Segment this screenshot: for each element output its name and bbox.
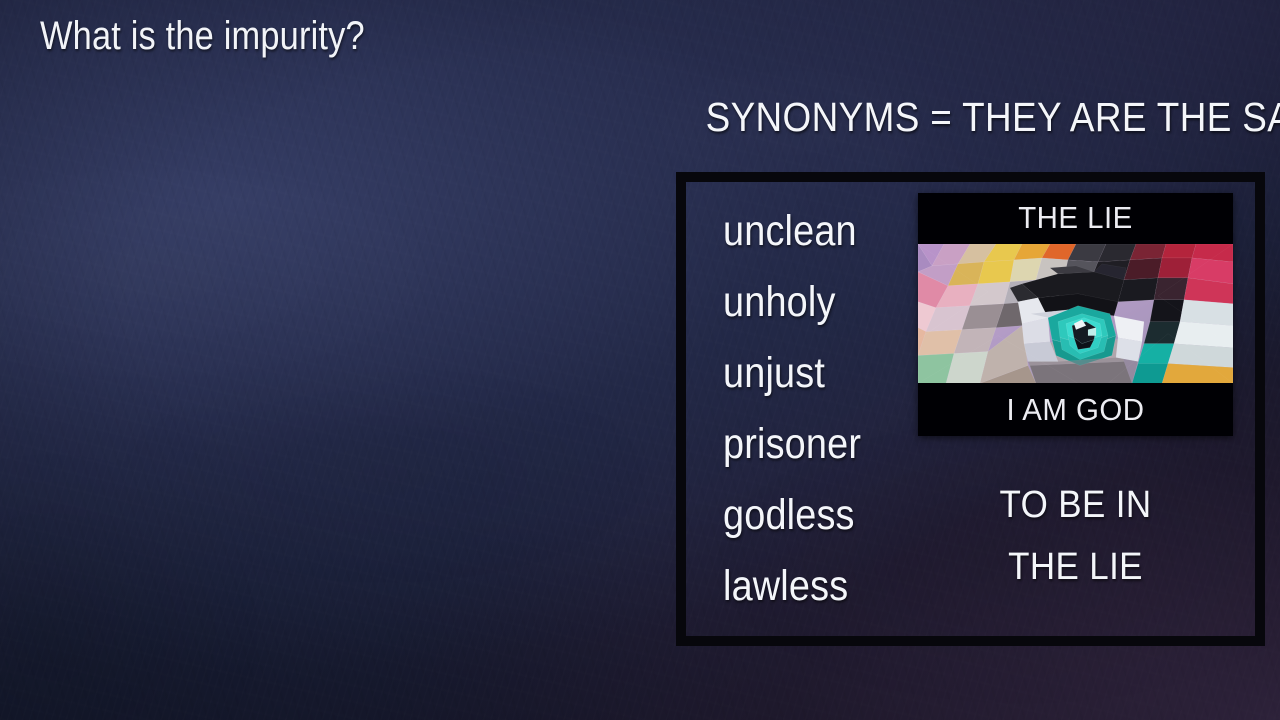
caption-line-1: TO BE IN: [931, 474, 1221, 536]
list-item: unholy: [723, 267, 890, 338]
meme-bottom-caption: I AM GOD: [926, 383, 1225, 436]
caption-line-2: THE LIE: [931, 536, 1221, 598]
meme-caption: TO BE IN THE LIE: [931, 474, 1221, 598]
page-title: What is the impurity?: [40, 14, 365, 58]
presentation-slide: What is the impurity? SYNONYMS = THEY AR…: [0, 0, 1280, 720]
synonym-list: unclean unholy unjust prisoner godless l…: [723, 196, 913, 622]
list-item: unjust: [723, 338, 890, 409]
list-item: prisoner: [723, 409, 890, 480]
synonyms-heading: SYNONYMS = THEY ARE THE SAME: [706, 96, 1239, 139]
meme-top-caption: THE LIE: [926, 193, 1225, 244]
meme-card: THE LIE: [918, 193, 1233, 436]
list-item: lawless: [723, 551, 890, 622]
list-item: godless: [723, 480, 890, 551]
lowpoly-eye-image: [918, 244, 1233, 383]
list-item: unclean: [723, 196, 890, 267]
